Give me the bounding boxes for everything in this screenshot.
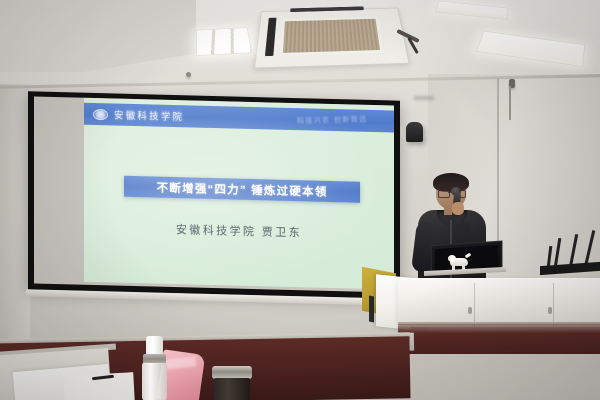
lectern-base <box>398 324 600 354</box>
ac-grille <box>280 16 384 55</box>
figurine-leg <box>462 265 465 270</box>
screen-surface: 安徽科技学院 科技兴农 创新致远 不断增强“四力” 锤炼过硬本领 安徽科技学院 … <box>34 96 394 292</box>
left-wall-edge <box>0 84 30 344</box>
slide-title-band: 不断增强“四力” 锤炼过硬本领 <box>124 176 360 203</box>
slide-header-bar: 安徽科技学院 科技兴农 创新致远 <box>84 103 394 133</box>
figurine-head <box>448 255 456 262</box>
lectern-knob <box>468 307 472 314</box>
lectern-seam <box>553 283 554 327</box>
ac-vent <box>290 6 364 12</box>
lectern-seam <box>474 283 475 327</box>
bottle-cap <box>146 336 163 355</box>
photo-scene: 安徽科技学院 科技兴农 创新致远 不断增强“四力” 锤炼过硬本领 安徽科技学院 … <box>0 0 600 400</box>
wall-mark <box>414 96 434 100</box>
ac-vent <box>265 18 277 56</box>
wall-speaker-icon <box>406 122 423 142</box>
lectern-top <box>398 278 600 327</box>
lectern-knob <box>548 307 552 314</box>
projected-slide: 安徽科技学院 科技兴农 创新致远 不断增强“四力” 锤炼过硬本领 安徽科技学院 … <box>84 98 394 290</box>
presenter-hand <box>452 202 464 215</box>
wall-corner-seam <box>497 78 499 268</box>
dark-thermos-bottle <box>212 366 252 400</box>
air-conditioner-icon <box>254 8 410 69</box>
ceiling-conduit <box>509 86 511 120</box>
presenter <box>408 176 494 294</box>
bottle-body <box>142 363 167 400</box>
ceiling-light-icon <box>196 27 252 56</box>
sprinkler-icon <box>186 72 191 77</box>
bottle-body <box>214 378 250 400</box>
university-emblem-icon <box>93 108 108 119</box>
figurine-leg <box>452 265 455 270</box>
animal-figurine <box>448 254 470 269</box>
slide-title: 不断增强“四力” 锤炼过硬本领 <box>157 179 328 199</box>
pink-bag-highlight <box>166 356 197 369</box>
white-thermos-bottle <box>140 336 168 400</box>
slide-watermark-text: 科技兴农 创新致远 <box>297 114 368 126</box>
projection-screen: 安徽科技学院 科技兴农 创新致远 不断增强“四力” 锤炼过硬本领 安徽科技学院 … <box>28 91 400 298</box>
slide-subtitle: 安徽科技学院 贾卫东 <box>84 219 394 243</box>
slide-institution-name: 安徽科技学院 <box>114 107 184 123</box>
board-bracket <box>369 296 374 323</box>
